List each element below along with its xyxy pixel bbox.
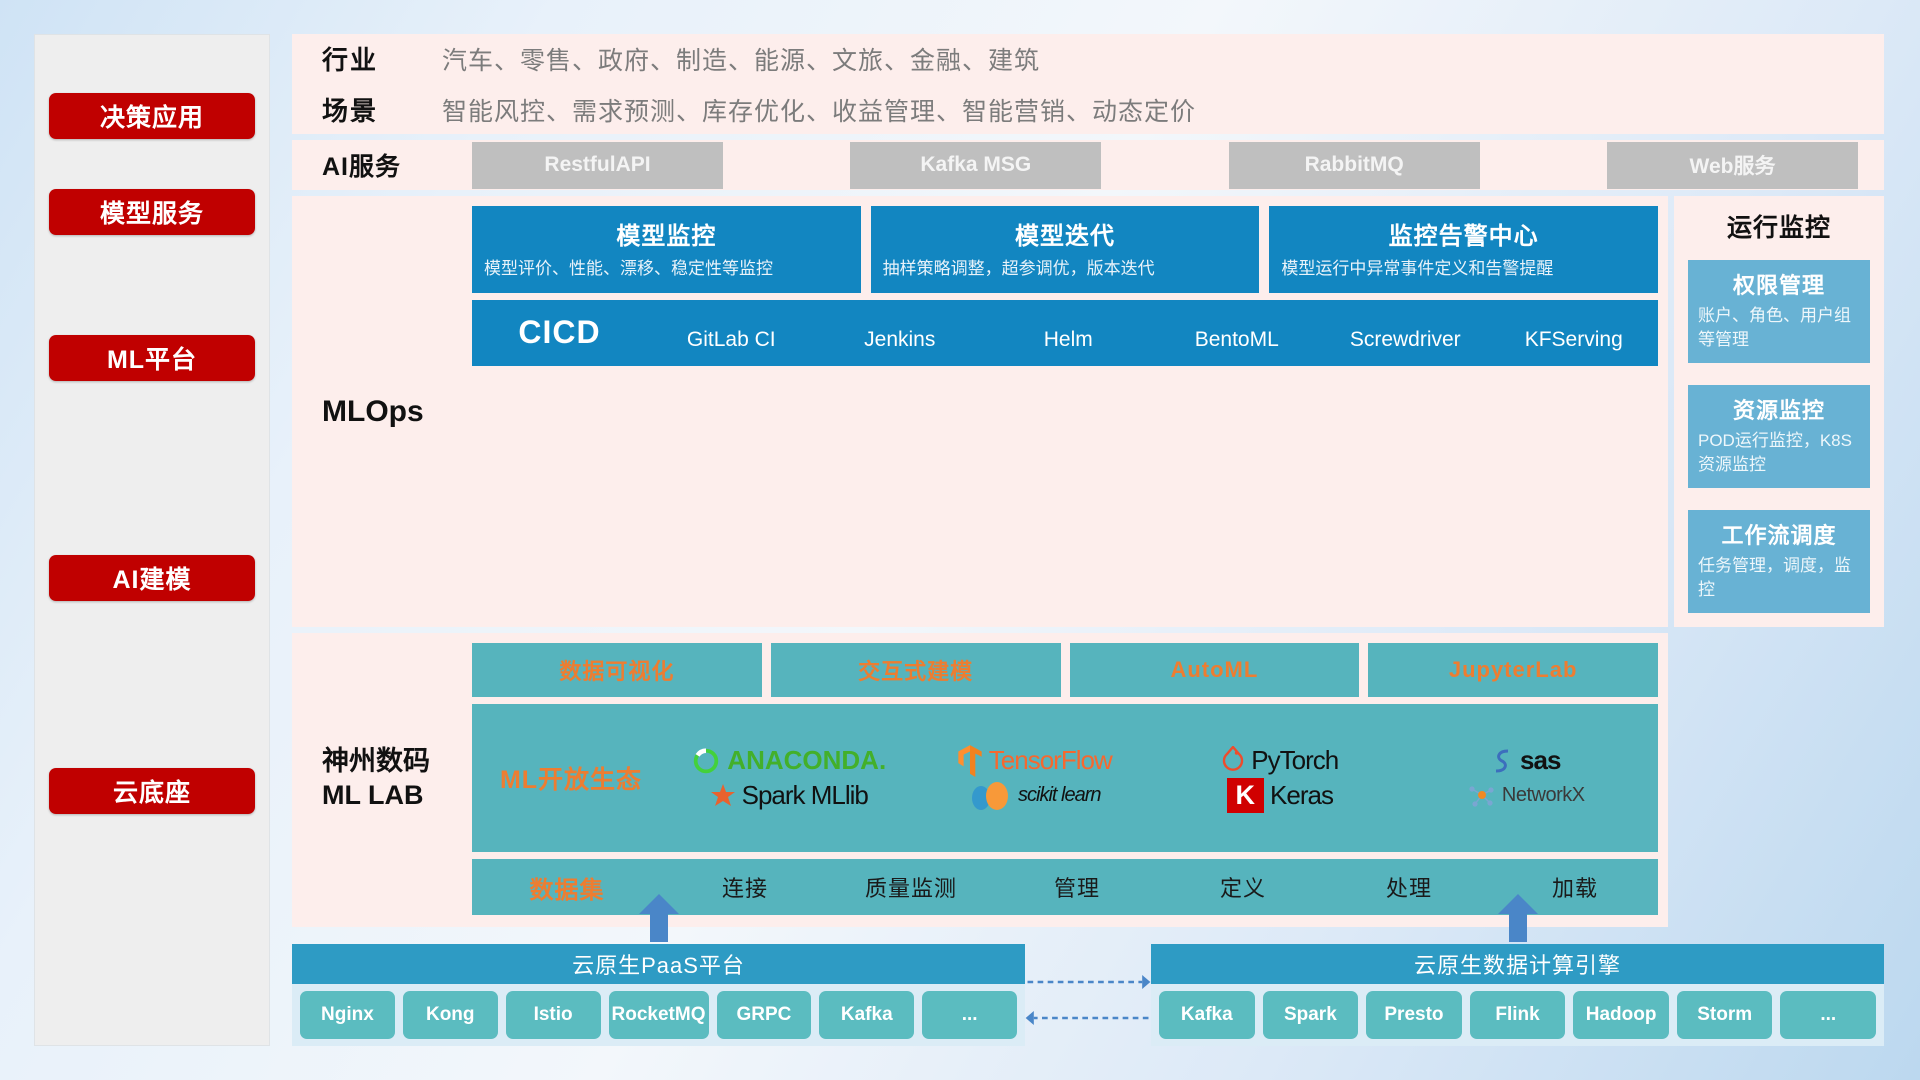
card-desc: POD运行监控，K8S资源监控 (1698, 429, 1860, 476)
tensorflow-label: TensorFlow (989, 745, 1112, 776)
cicd-title: CICD (472, 314, 647, 351)
cloud-compute-engine-chips: Kafka Spark Presto Flink Hadoop Storm ..… (1151, 984, 1884, 1046)
ml-lab-content: 数据可视化 交互式建模 AutoML JupyterLab ML开放生态 (472, 643, 1658, 915)
spark-mllib-label: Spark MLlib (742, 780, 868, 811)
rail-item-model-service[interactable]: 模型服务 (49, 189, 255, 235)
ml-open-ecosystem-label: ML开放生态 (476, 760, 666, 796)
chip-flink[interactable]: Flink (1470, 991, 1566, 1039)
chip-hadoop[interactable]: Hadoop (1573, 991, 1669, 1039)
sas-label: sas (1520, 745, 1560, 776)
card-desc: 模型评价、性能、漂移、稳定性等监控 (484, 257, 849, 280)
mlops-card-model-iteration[interactable]: 模型迭代 抽样策略调整，超参调优，版本迭代 (871, 206, 1260, 292)
rail-label: AI建模 (112, 560, 191, 596)
industry-key: 行业 (322, 40, 442, 77)
networkx-logo: NetworkX (1466, 781, 1585, 811)
ai-service-boxes: RestfulAPI Kafka MSG RabbitMQ Web服务 (472, 142, 1858, 189)
card-desc: 账户、角色、用户组等管理 (1698, 304, 1860, 351)
scenario-row: 场景 智能风控、需求预测、库存优化、收益管理、智能营销、动态定价 (322, 91, 1884, 128)
networkx-graph-glyph (1466, 781, 1496, 811)
ai-service-restfulapi[interactable]: RestfulAPI (472, 142, 723, 189)
arrow-up-icon (1496, 892, 1540, 944)
tensorflow-logo: TensorFlow (957, 744, 1112, 778)
keras-k-glyph: K (1227, 778, 1265, 813)
ml-lab-band: 神州数码 ML LAB 数据可视化 交互式建模 AutoML JupyterLa… (292, 633, 1668, 927)
chip-more[interactable]: ... (922, 991, 1017, 1039)
monitor-card-permission[interactable]: 权限管理 账户、角色、用户组等管理 (1688, 260, 1870, 363)
chip-presto[interactable]: Presto (1366, 991, 1462, 1039)
card-desc: 抽样策略调整，超参调优，版本迭代 (883, 257, 1248, 280)
card-title: 监控告警中心 (1281, 216, 1646, 251)
layer-rail: 决策应用 模型服务 ML平台 AI建模 云底座 (34, 34, 270, 1046)
ai-service-web[interactable]: Web服务 (1607, 142, 1858, 189)
rail-item-cloud-foundation[interactable]: 云底座 (49, 768, 255, 814)
rail-item-ai-modeling[interactable]: AI建模 (49, 555, 255, 601)
chip-kafka[interactable]: Kafka (1159, 991, 1255, 1039)
spark-mllib-logo: Spark MLlib (710, 780, 868, 811)
card-title: 工作流调度 (1698, 518, 1860, 550)
arrow-up-icon (637, 892, 681, 944)
mlops-band: MLOps 模型监控 模型评价、性能、漂移、稳定性等监控 模型迭代 抽样策略调整… (292, 196, 1668, 627)
ai-service-rabbitmq[interactable]: RabbitMQ (1229, 142, 1480, 189)
chip-rocketmq[interactable]: RocketMQ (609, 991, 709, 1039)
mlops-card-alert-center[interactable]: 监控告警中心 模型运行中异常事件定义和告警提醒 (1269, 206, 1658, 292)
sas-logo: sas (1490, 745, 1560, 776)
tab-interactive-modeling[interactable]: 交互式建模 (771, 643, 1061, 697)
mlops-label: MLOps (322, 206, 472, 617)
cicd-item-gitlab-ci[interactable]: GitLab CI (647, 327, 816, 353)
ml-lab-label: 神州数码 ML LAB (322, 745, 472, 813)
bidirectional-connectors (1025, 964, 1151, 1034)
pytorch-logo: PyTorch (1221, 745, 1338, 776)
chip-more[interactable]: ... (1780, 991, 1876, 1039)
mlops-card-model-monitoring[interactable]: 模型监控 模型评价、性能、漂移、稳定性等监控 (472, 206, 861, 292)
rail-label: 云底座 (113, 773, 191, 809)
mlops-monitor-row: MLOps 模型监控 模型评价、性能、漂移、稳定性等监控 模型迭代 抽样策略调整… (292, 196, 1884, 627)
ecosystem-logos: ANACONDA. TensorFlow (666, 743, 1648, 813)
main-column: 行业 汽车、零售、政府、制造、能源、文旅、金融、建筑 场景 智能风控、需求预测、… (292, 34, 1884, 1046)
scikit-learn-label: scikit learn (1018, 784, 1100, 807)
cicd-bar: CICD GitLab CI Jenkins Helm BentoML Scre… (472, 300, 1658, 366)
card-title: 模型迭代 (883, 216, 1248, 251)
cicd-item-bentoml[interactable]: BentoML (1153, 327, 1322, 353)
ml-lab-row: 神州数码 ML LAB 数据可视化 交互式建模 AutoML JupyterLa… (292, 633, 1884, 927)
rail-item-decision-app[interactable]: 决策应用 (49, 93, 255, 139)
keras-label: Keras (1270, 780, 1333, 811)
chip-nginx[interactable]: Nginx (300, 991, 395, 1039)
sas-glyph (1490, 747, 1514, 775)
anaconda-label: ANACONDA. (727, 745, 886, 776)
cloud-compute-engine-title: 云原生数据计算引擎 (1151, 944, 1884, 984)
scenario-key: 场景 (322, 91, 442, 128)
mlops-cards: 模型监控 模型评价、性能、漂移、稳定性等监控 模型迭代 抽样策略调整，超参调优，… (472, 206, 1658, 292)
ml-lab-tabs: 数据可视化 交互式建模 AutoML JupyterLab (472, 643, 1658, 697)
cicd-items: GitLab CI Jenkins Helm BentoML Screwdriv… (647, 313, 1658, 353)
card-title: 权限管理 (1698, 268, 1860, 300)
architecture-diagram: 决策应用 模型服务 ML平台 AI建模 云底座 行业 汽车、零售、政府、制造、能… (0, 0, 1920, 1080)
card-title: 模型监控 (484, 216, 849, 251)
rail-label: 模型服务 (100, 194, 204, 230)
card-title: 资源监控 (1698, 393, 1860, 425)
cloud-compute-engine-group: 云原生数据计算引擎 Kafka Spark Presto Flink Hadoo… (1151, 892, 1884, 1046)
industry-scenario-band: 行业 汽车、零售、政府、制造、能源、文旅、金融、建筑 场景 智能风控、需求预测、… (292, 34, 1884, 134)
runtime-monitor-title: 运行监控 (1688, 208, 1870, 244)
networkx-label: NetworkX (1502, 784, 1585, 807)
cicd-item-screwdriver[interactable]: Screwdriver (1321, 327, 1490, 353)
chip-kafka[interactable]: Kafka (819, 991, 914, 1039)
spark-star-glyph (710, 783, 736, 809)
cloud-paas-group: 云原生PaaS平台 Nginx Kong Istio RocketMQ GRPC… (292, 892, 1025, 1046)
monitor-card-workflow[interactable]: 工作流调度 任务管理，调度，监控 (1688, 510, 1870, 613)
scikit-learn-logo: scikit learn (968, 779, 1100, 813)
ml-lab-right-spacer (1674, 633, 1884, 927)
rail-label: 决策应用 (100, 98, 204, 134)
anaconda-logo: ANACONDA. (691, 745, 886, 776)
connector-arrows-icon (1025, 964, 1151, 1034)
tab-automl[interactable]: AutoML (1070, 643, 1360, 697)
cloud-paas-title: 云原生PaaS平台 (292, 944, 1025, 984)
mlops-content: 模型监控 模型评价、性能、漂移、稳定性等监控 模型迭代 抽样策略调整，超参调优，… (472, 206, 1658, 617)
ai-service-kafka-msg[interactable]: Kafka MSG (850, 142, 1101, 189)
pytorch-label: PyTorch (1251, 745, 1338, 776)
tab-data-visualization[interactable]: 数据可视化 (472, 643, 762, 697)
card-desc: 模型运行中异常事件定义和告警提醒 (1281, 257, 1646, 280)
monitor-card-resource[interactable]: 资源监控 POD运行监控，K8S资源监控 (1688, 385, 1870, 488)
card-desc: 任务管理，调度，监控 (1698, 554, 1860, 601)
scikit-learn-glyph (968, 779, 1012, 813)
chip-grpc[interactable]: GRPC (717, 991, 812, 1039)
cicd-item-helm[interactable]: Helm (984, 327, 1153, 353)
chip-istio[interactable]: Istio (506, 991, 601, 1039)
industry-value: 汽车、零售、政府、制造、能源、文旅、金融、建筑 (442, 41, 1040, 77)
ml-open-ecosystem: ML开放生态 ANACONDA. (472, 704, 1658, 852)
cloud-paas-chips: Nginx Kong Istio RocketMQ GRPC Kafka ... (292, 984, 1025, 1046)
rail-label: ML平台 (107, 340, 197, 376)
chip-spark[interactable]: Spark (1263, 991, 1359, 1039)
cicd-item-kfserving[interactable]: KFServing (1490, 327, 1659, 353)
pytorch-glyph (1221, 746, 1245, 776)
ai-service-label: AI服务 (322, 147, 472, 183)
cicd-item-jenkins[interactable]: Jenkins (816, 327, 985, 353)
keras-logo: K Keras (1227, 778, 1333, 813)
chip-storm[interactable]: Storm (1677, 991, 1773, 1039)
ai-service-band: AI服务 RestfulAPI Kafka MSG RabbitMQ Web服务 (292, 140, 1884, 190)
rail-item-ml-platform[interactable]: ML平台 (49, 335, 255, 381)
ml-lab-label-line2: ML LAB (322, 779, 472, 813)
scenario-value: 智能风控、需求预测、库存优化、收益管理、智能营销、动态定价 (442, 92, 1196, 128)
tab-jupyterlab[interactable]: JupyterLab (1368, 643, 1658, 697)
cloud-foundation-row: 云原生PaaS平台 Nginx Kong Istio RocketMQ GRPC… (292, 941, 1884, 1046)
tensorflow-glyph (957, 744, 983, 778)
runtime-monitor-cards: 权限管理 账户、角色、用户组等管理 资源监控 POD运行监控，K8S资源监控 工… (1688, 260, 1870, 613)
chip-kong[interactable]: Kong (403, 991, 498, 1039)
runtime-monitor-band: 运行监控 权限管理 账户、角色、用户组等管理 资源监控 POD运行监控，K8S资… (1674, 196, 1884, 627)
industry-row: 行业 汽车、零售、政府、制造、能源、文旅、金融、建筑 (322, 40, 1884, 77)
anaconda-glyph (691, 746, 721, 776)
ml-lab-label-line1: 神州数码 (322, 745, 472, 779)
